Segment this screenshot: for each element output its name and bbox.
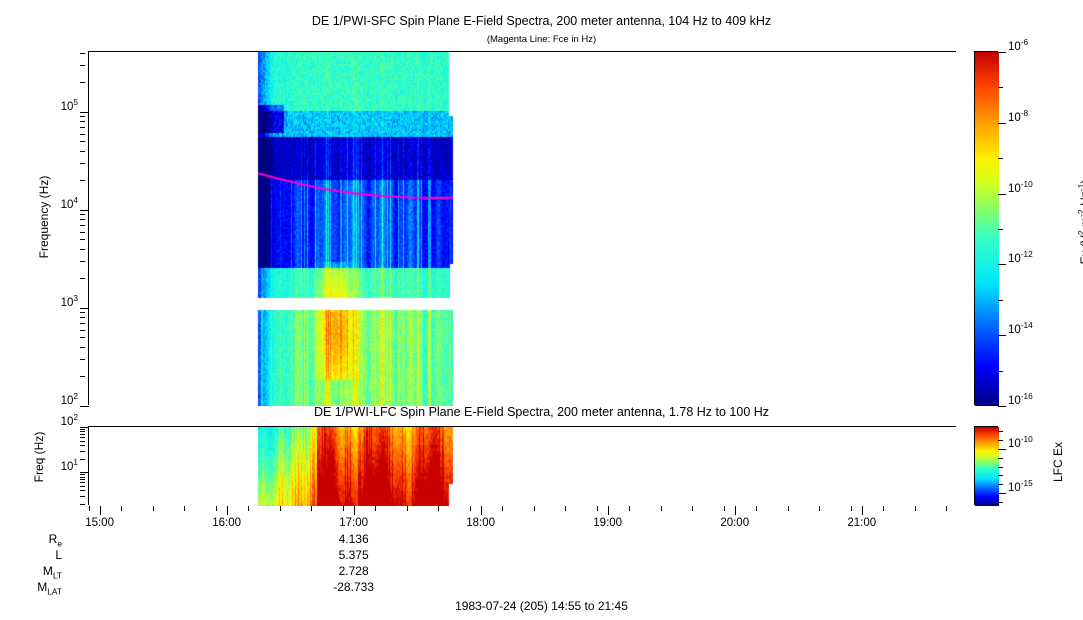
lfc-y-minor-tick xyxy=(80,496,85,497)
lfc-colorbar-minor-tick xyxy=(998,502,1003,503)
ephemeris-label: Re xyxy=(0,532,62,546)
sfc-y-minor-tick xyxy=(80,65,85,66)
sfc-y-minor-tick xyxy=(80,376,85,377)
lfc-y-minor-tick xyxy=(80,451,85,452)
ephemeris-label: L xyxy=(0,548,62,562)
time-minor-tick xyxy=(851,506,852,511)
sfc-y-minor-tick xyxy=(80,278,85,279)
ephemeris-value: 5.375 xyxy=(294,548,414,562)
sfc-y-minor-tick xyxy=(80,312,85,313)
lfc-colorbar-major-tick xyxy=(998,449,1006,450)
time-minor-tick xyxy=(661,506,662,511)
time-tick-label: 17:00 xyxy=(314,517,394,529)
sfc-colorbar-minor-tick xyxy=(998,300,1003,301)
time-tick-label: 20:00 xyxy=(695,517,775,529)
time-tick-label: 19:00 xyxy=(568,517,648,529)
lfc-spectrogram xyxy=(89,427,957,506)
sfc-spectrogram xyxy=(89,52,957,406)
colorbar-label-text: Ex (V2 m-2 Hz-1) xyxy=(1078,180,1083,265)
lfc-y-minor-tick xyxy=(80,474,85,475)
sfc-colorbar-major-tick xyxy=(998,123,1006,124)
time-minor-tick xyxy=(343,506,344,511)
sfc-colorbar-label: Ex (V2 m-2 Hz-1) xyxy=(1078,137,1083,307)
sfc-colorbar-major-tick xyxy=(998,52,1006,53)
ephemeris-value: 4.136 xyxy=(294,532,414,546)
lfc-y-minor-tick xyxy=(80,486,85,487)
sfc-y-minor-tick xyxy=(80,121,85,122)
time-minor-tick xyxy=(438,506,439,511)
time-minor-tick xyxy=(946,506,947,511)
sfc-y-major-tick xyxy=(80,210,89,211)
sfc-colorbar-minor-tick xyxy=(998,87,1003,88)
sfc-y-minor-tick xyxy=(80,249,85,250)
time-minor-tick xyxy=(915,506,916,511)
sfc-colorbar-tick-label: 10-10 xyxy=(1008,183,1062,195)
sfc-y-minor-tick xyxy=(80,219,85,220)
sfc-y-minor-tick xyxy=(80,127,85,128)
footer-date-range: 1983-07-24 (205) 14:55 to 21:45 xyxy=(0,599,1083,613)
time-tick-label: 21:00 xyxy=(822,517,902,529)
lfc-colorbar-minor-tick xyxy=(998,484,1003,485)
lfc-colorbar-minor-tick xyxy=(998,475,1003,476)
time-tick-label: 18:00 xyxy=(441,517,521,529)
sfc-y-minor-tick xyxy=(80,116,85,117)
lfc-title: DE 1/PWI-LFC Spin Plane E-Field Spectra,… xyxy=(0,405,1083,419)
ephemeris-value: -28.733 xyxy=(294,580,414,594)
time-minor-tick xyxy=(121,506,122,511)
sfc-y-minor-tick xyxy=(80,151,85,152)
sfc-y-minor-tick xyxy=(80,82,85,83)
sfc-y-tick-label: 104 xyxy=(34,199,78,211)
sfc-y-minor-tick xyxy=(80,359,85,360)
lfc-colorbar-label: LFC Ex xyxy=(1051,407,1065,517)
time-minor-tick xyxy=(153,506,154,511)
time-minor-tick xyxy=(311,506,312,511)
sfc-y-minor-tick xyxy=(80,134,85,135)
sfc-colorbar-major-tick xyxy=(998,264,1006,265)
sfc-y-minor-tick xyxy=(80,180,85,181)
time-tick-label: 16:00 xyxy=(187,517,267,529)
time-major-tick xyxy=(227,506,228,515)
sfc-y-tick-label: 103 xyxy=(34,297,78,309)
sfc-colorbar-minor-tick xyxy=(998,229,1003,230)
time-minor-tick xyxy=(184,506,185,511)
time-minor-tick xyxy=(565,506,566,511)
sfc-colorbar-tick-label: 10-12 xyxy=(1008,253,1062,265)
sfc-colorbar-tick-label: 10-8 xyxy=(1008,112,1062,124)
lfc-y-minor-tick xyxy=(80,429,85,430)
sfc-y-minor-tick xyxy=(80,323,85,324)
time-tick-label: 15:00 xyxy=(60,517,140,529)
time-minor-tick xyxy=(883,506,884,511)
sfc-colorbar-tick-label: 10-6 xyxy=(1008,41,1062,53)
sfc-y-minor-tick xyxy=(80,53,85,54)
ephemeris-label: MLT xyxy=(0,564,62,578)
sfc-y-minor-tick xyxy=(80,239,85,240)
lfc-y-minor-tick xyxy=(80,434,85,435)
lfc-colorbar-minor-tick xyxy=(998,467,1003,468)
lfc-colorbar-minor-tick xyxy=(998,458,1003,459)
sfc-colorbar-minor-tick xyxy=(998,158,1003,159)
sfc-y-minor-tick xyxy=(80,347,85,348)
lfc-y-tick-label: 101 xyxy=(34,461,78,473)
sfc-colorbar-tick-label: 10-14 xyxy=(1008,324,1062,336)
time-minor-tick xyxy=(216,506,217,511)
sfc-y-tick-label: 105 xyxy=(34,101,78,113)
sfc-y-minor-tick xyxy=(80,214,85,215)
time-minor-tick xyxy=(756,506,757,511)
sfc-colorbar-major-tick xyxy=(998,335,1006,336)
lfc-y-minor-tick xyxy=(80,437,85,438)
lfc-y-minor-tick xyxy=(80,441,85,442)
sfc-y-minor-tick xyxy=(80,225,85,226)
time-minor-tick xyxy=(375,506,376,511)
lfc-y-minor-tick xyxy=(80,482,85,483)
time-minor-tick xyxy=(534,506,535,511)
time-major-tick xyxy=(481,506,482,515)
lfc-colorbar-major-tick xyxy=(998,493,1006,494)
time-minor-tick xyxy=(597,506,598,511)
lfc-colorbar-minor-tick xyxy=(998,440,1003,441)
lfc-y-tick-label: 102 xyxy=(34,416,78,428)
time-minor-tick xyxy=(502,506,503,511)
page-subtitle: (Magenta Line: Fce in Hz) xyxy=(0,34,1083,45)
sfc-colorbar-minor-tick xyxy=(998,371,1003,372)
sfc-y-major-tick xyxy=(80,112,89,113)
time-minor-tick xyxy=(692,506,693,511)
lfc-y-minor-tick xyxy=(80,479,85,480)
sfc-y-minor-tick xyxy=(80,330,85,331)
time-major-tick xyxy=(608,506,609,515)
sfc-y-minor-tick xyxy=(80,163,85,164)
lfc-colorbar-gradient xyxy=(975,427,999,506)
time-minor-tick xyxy=(819,506,820,511)
lfc-y-minor-tick xyxy=(80,504,85,505)
lfc-colorbar-minor-tick xyxy=(998,431,1003,432)
time-minor-tick xyxy=(724,506,725,511)
sfc-y-minor-tick xyxy=(80,261,85,262)
time-major-tick xyxy=(354,506,355,515)
sfc-y-minor-tick xyxy=(80,232,85,233)
sfc-y-axis-label: Frequency (Hz) xyxy=(37,147,51,287)
sfc-colorbar-major-tick xyxy=(998,194,1006,195)
ephemeris-label: MLAT xyxy=(0,580,62,594)
time-major-tick xyxy=(735,506,736,515)
time-minor-tick xyxy=(407,506,408,511)
sfc-y-major-tick xyxy=(80,308,89,309)
time-major-tick xyxy=(100,506,101,515)
lfc-y-minor-tick xyxy=(80,431,85,432)
time-minor-tick xyxy=(89,506,90,511)
sfc-y-minor-tick xyxy=(80,141,85,142)
time-minor-tick xyxy=(788,506,789,511)
lfc-y-minor-tick xyxy=(80,477,85,478)
time-minor-tick xyxy=(629,506,630,511)
time-minor-tick xyxy=(280,506,281,511)
lfc-y-minor-tick xyxy=(80,445,85,446)
ephemeris-value: 2.728 xyxy=(294,564,414,578)
time-major-tick xyxy=(862,506,863,515)
lfc-y-minor-tick xyxy=(80,459,85,460)
time-minor-tick xyxy=(470,506,471,511)
sfc-y-minor-tick xyxy=(80,337,85,338)
time-minor-tick xyxy=(248,506,249,511)
page-title: DE 1/PWI-SFC Spin Plane E-Field Spectra,… xyxy=(0,14,1083,28)
sfc-colorbar-gradient xyxy=(975,52,999,406)
sfc-y-minor-tick xyxy=(80,317,85,318)
lfc-y-minor-tick xyxy=(80,490,85,491)
